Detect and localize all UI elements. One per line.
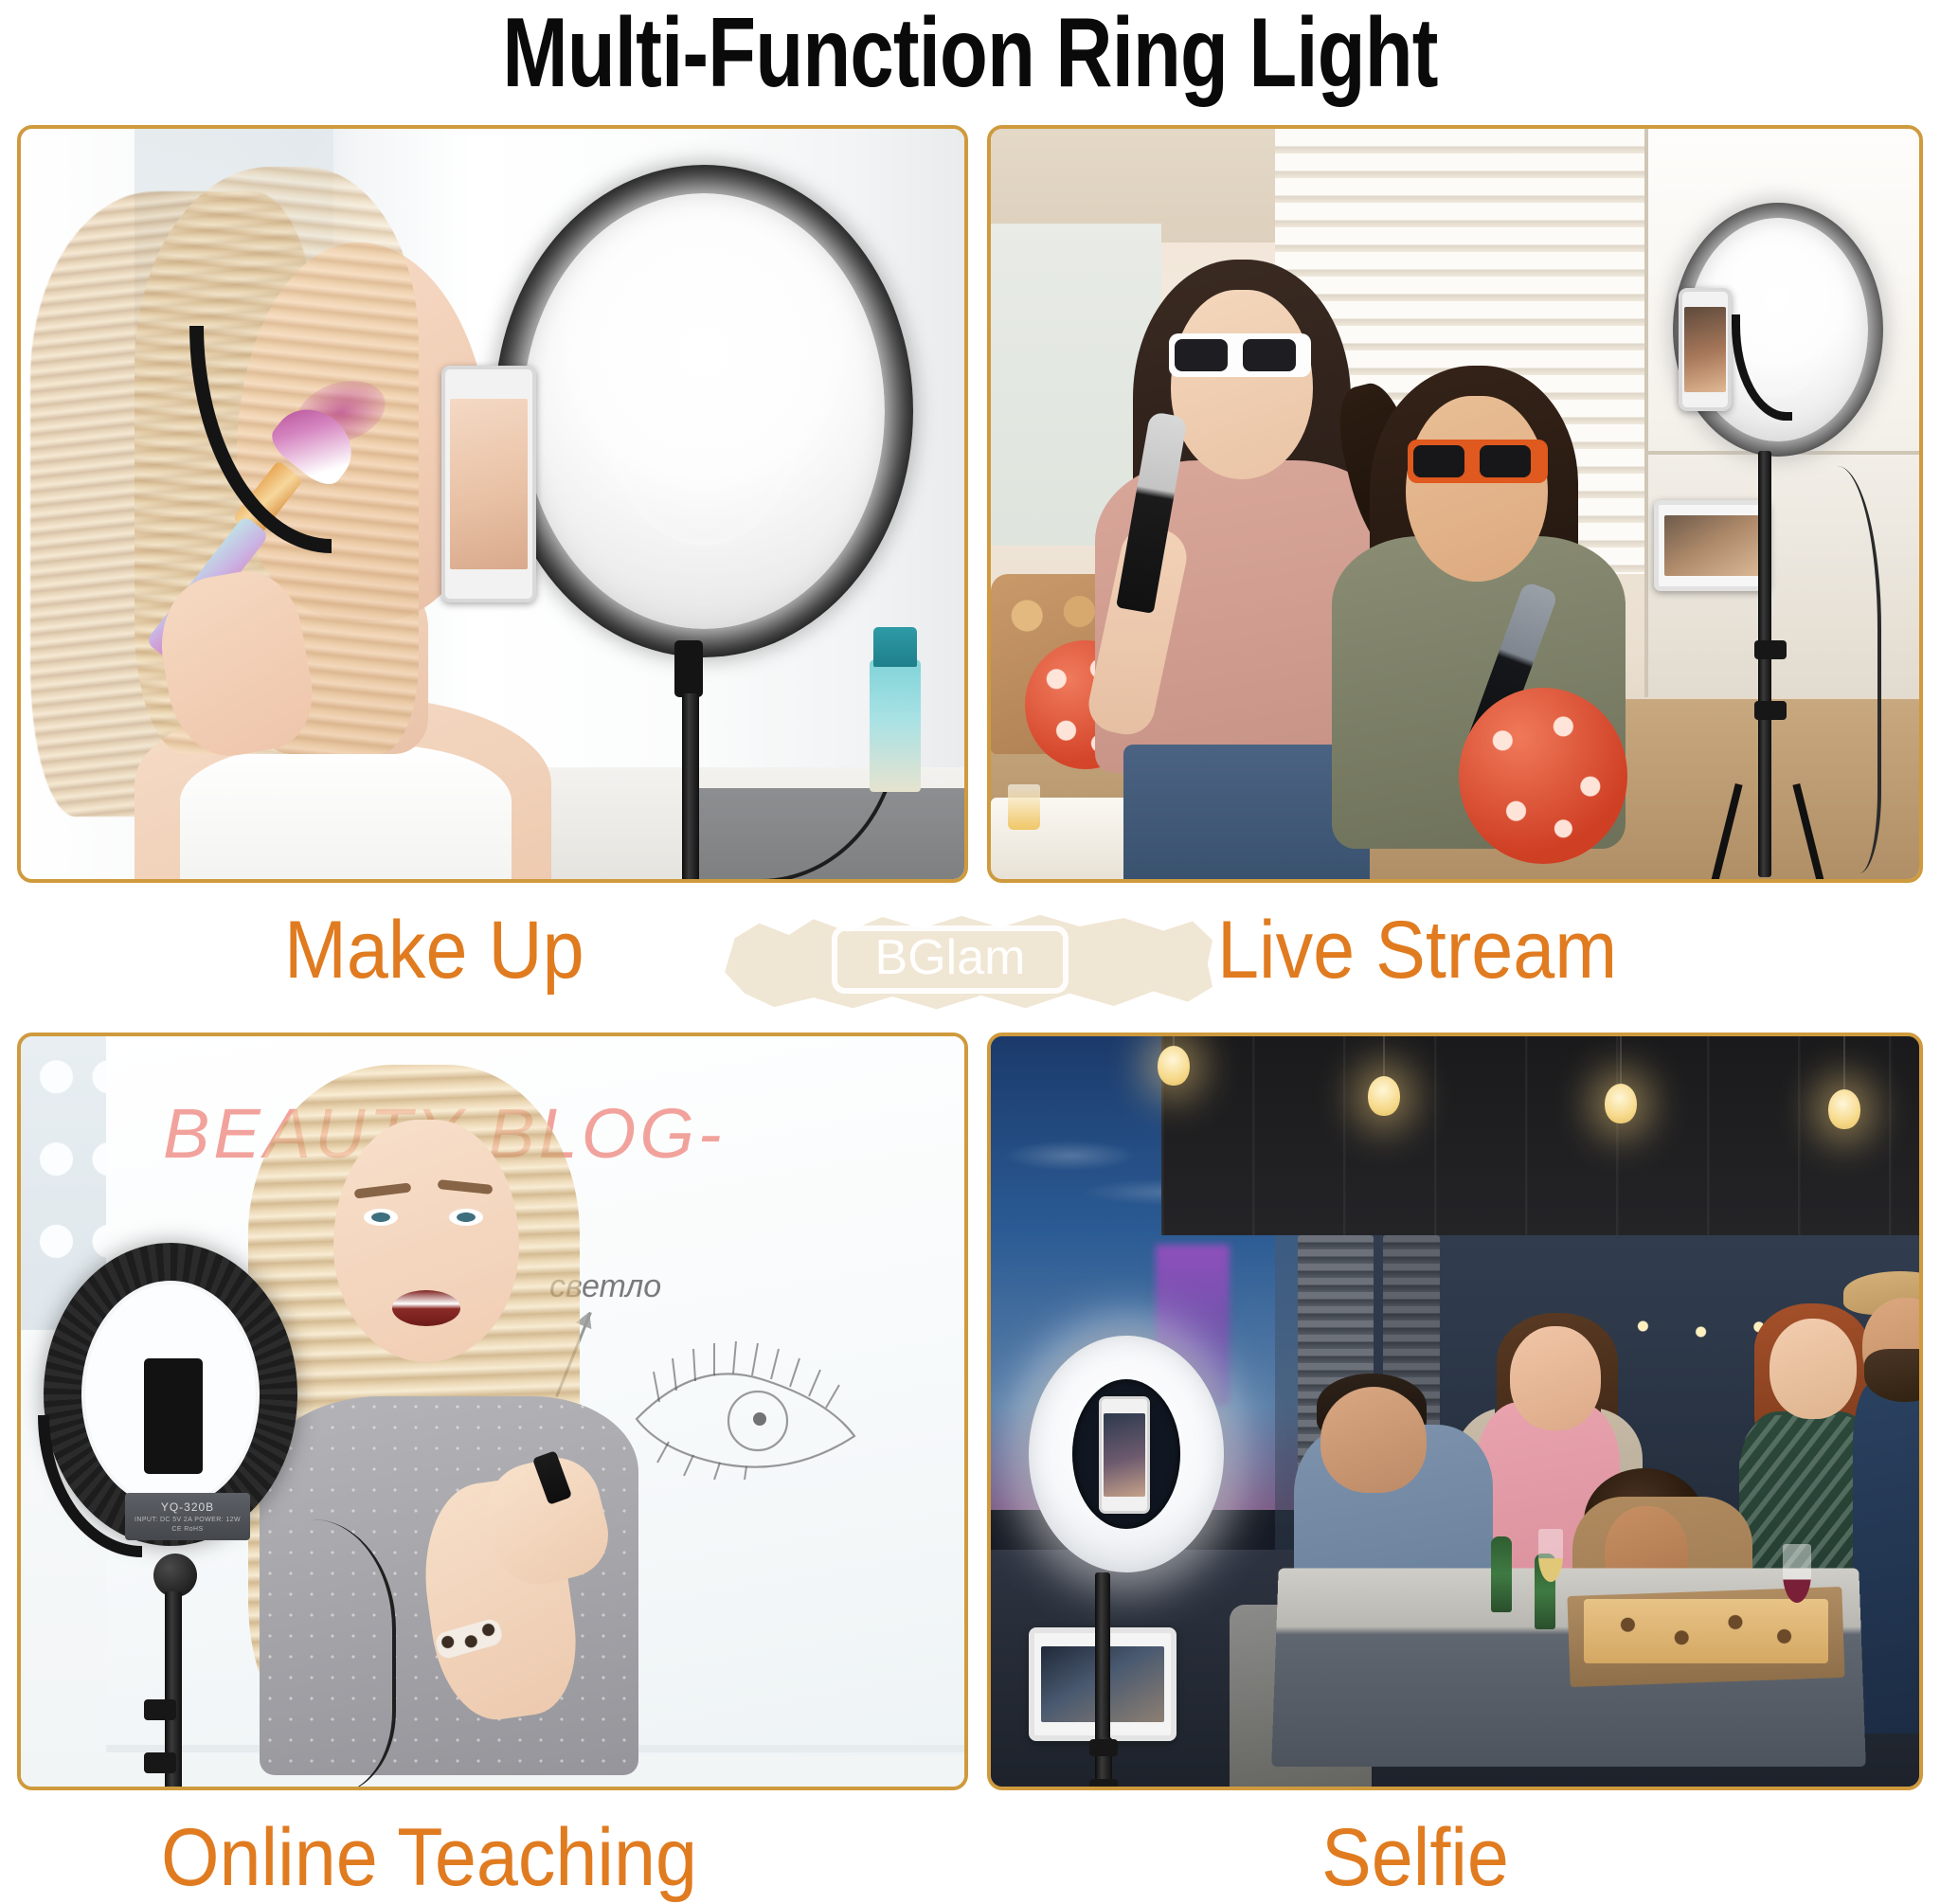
bulb-cord-four [1843, 1036, 1845, 1091]
bulb-cord-two [1383, 1036, 1385, 1078]
whiteboard-eye-sketch [627, 1338, 864, 1480]
singer-two-face [1406, 396, 1548, 582]
guest-one-face [1510, 1326, 1601, 1430]
tripod-knob-lower-teaching [144, 1752, 176, 1773]
mounted-phone-makeup [441, 366, 536, 602]
singer-one-face [1171, 290, 1313, 479]
singer-two-lens-left [1413, 445, 1464, 477]
panel-live-stream[interactable] [987, 125, 1923, 883]
phone-screen-selfie [1104, 1413, 1144, 1496]
scene-make-up [21, 129, 964, 879]
eye-sketch-svg [627, 1338, 864, 1480]
teacher-lips [392, 1290, 460, 1326]
device-model-text: YQ-320B [161, 1500, 214, 1514]
tripod-head-makeup [674, 640, 703, 697]
hanging-bulb-two [1368, 1076, 1400, 1116]
singer-one-lens-left [1175, 339, 1228, 371]
singer-two-lens-right [1480, 445, 1531, 477]
caption-online-teaching: Online Teaching [161, 1817, 697, 1898]
guest-two-face [1320, 1387, 1427, 1493]
caption-selfie: Selfie [1321, 1817, 1509, 1898]
phone-clamp-teaching [144, 1358, 203, 1474]
panel-selfie[interactable] [987, 1033, 1923, 1790]
tripod-knob-upper-teaching [144, 1699, 176, 1720]
mounted-tablet-livestream [1654, 500, 1769, 591]
phone-screen-livestream [1684, 307, 1725, 392]
tripod-pole-livestream [1758, 451, 1771, 877]
beer-bottle-one [1491, 1536, 1512, 1612]
hanging-bulb-four [1828, 1089, 1860, 1129]
power-cable-livestream [1771, 466, 1881, 873]
mounted-phone-selfie [1099, 1396, 1150, 1514]
hanging-bulb-three [1605, 1084, 1637, 1123]
ring-light-makeup [494, 165, 913, 657]
makeup-model-tank-top [180, 745, 512, 879]
panel-make-up[interactable] [17, 125, 968, 883]
tripod-knob-upper-selfie [1089, 1739, 1118, 1756]
phone-screen-makeup [450, 399, 529, 568]
mounted-phone-livestream [1679, 288, 1732, 411]
scene-online-teaching: BEAUTY BLOG- светло [21, 1036, 964, 1787]
scene-live-stream [991, 129, 1919, 879]
teacher-eye-left [364, 1209, 398, 1226]
wine-glass-white [1538, 1529, 1563, 1582]
tripod-knob-lower-selfie [1089, 1779, 1118, 1787]
livestream-window-frame-vertical [1644, 129, 1648, 697]
guest-three-face [1769, 1319, 1857, 1419]
bulb-cord-three [1620, 1036, 1622, 1086]
ring-center-hole [606, 277, 801, 546]
hanging-bulb-one [1158, 1046, 1190, 1086]
cosmetic-bottle-cap [873, 627, 917, 667]
scene-selfie [991, 1036, 1919, 1787]
pizza [1584, 1599, 1828, 1663]
singer-one-lens-right [1243, 339, 1296, 371]
power-cable-teaching [188, 1519, 396, 1787]
wine-glass-red [1783, 1544, 1811, 1603]
caption-make-up: Make Up [284, 909, 584, 991]
teacher-eye-right [449, 1209, 483, 1226]
infographic-page: Multi-Function Ring Light [0, 0, 1940, 1904]
balloon-right [1459, 688, 1627, 864]
selfie-ceiling-beams [1161, 1036, 1919, 1235]
livestream-juice-glass [1008, 784, 1040, 830]
panel-online-teaching[interactable]: BEAUTY BLOG- светло [17, 1033, 968, 1790]
caption-live-stream: Live Stream [1217, 909, 1617, 991]
tripod-pole-makeup [682, 693, 699, 879]
cosmetic-bottle [870, 659, 921, 792]
tablet-screen-livestream [1664, 515, 1760, 576]
